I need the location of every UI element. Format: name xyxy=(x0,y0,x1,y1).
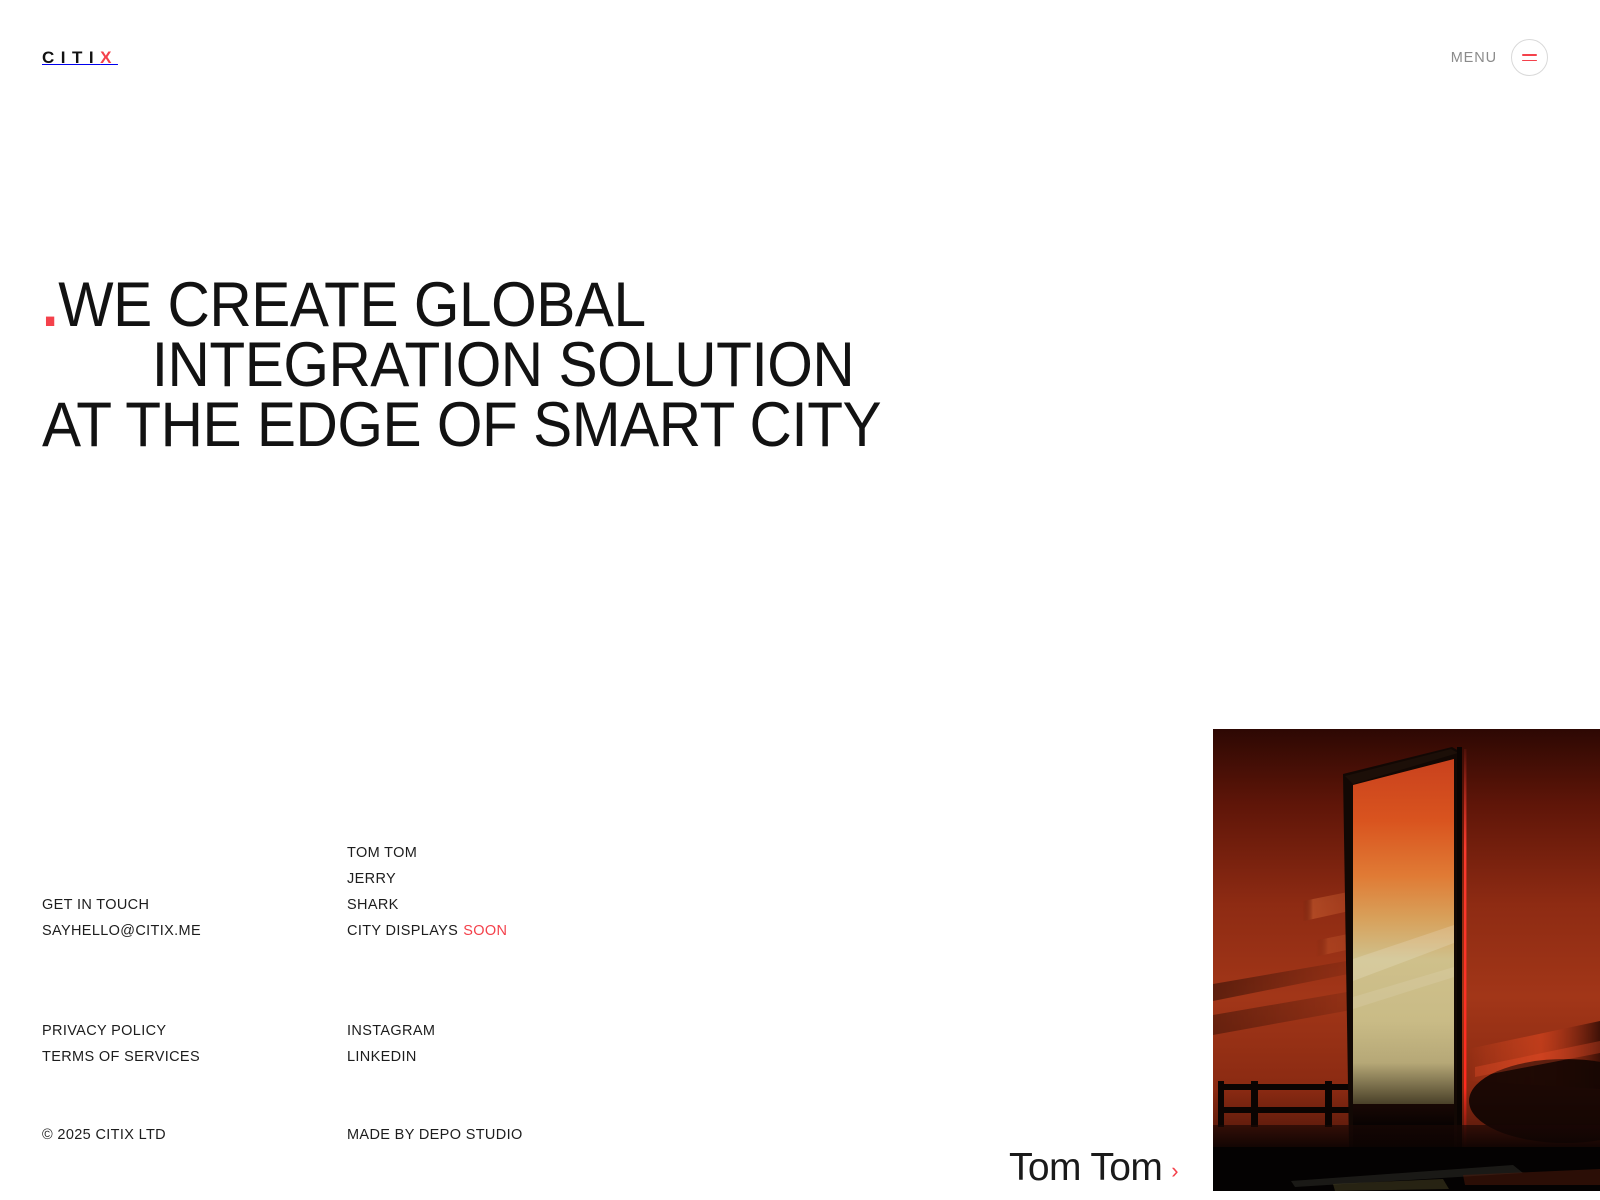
footer-social-column: INSTAGRAM LINKEDIN xyxy=(347,1018,1042,1070)
hero-headline: .WE CREATE GLOBAL INTEGRATION SOLUTION A… xyxy=(42,275,1142,455)
hamburger-bar-bottom xyxy=(1522,60,1537,62)
footer-middle-grid: PRIVACY POLICY TERMS OF SERVICES INSTAGR… xyxy=(42,1018,1042,1070)
hero-accent-dot: . xyxy=(42,270,56,340)
status-badge: SOON xyxy=(463,923,507,939)
site-footer: GET IN TOUCH SAYHELLO@CITIX.ME TOM TOM J… xyxy=(42,840,1042,1148)
hero-line-1: .WE CREATE GLOBAL xyxy=(42,275,1065,335)
featured-project-title: Tom Tom xyxy=(1009,1148,1162,1187)
chevron-right-icon: › xyxy=(1171,1160,1178,1182)
brand-logo-accent: X xyxy=(100,49,118,66)
list-item[interactable]: SHARK xyxy=(347,892,1042,918)
contact-heading: GET IN TOUCH xyxy=(42,892,347,918)
footer-spacer-1 xyxy=(42,944,1042,1018)
linkedin-link[interactable]: LINKEDIN xyxy=(347,1044,1042,1070)
project-label: TOM TOM xyxy=(347,845,417,861)
project-label: JERRY xyxy=(347,871,396,887)
footer-spacer-2 xyxy=(42,1070,1042,1122)
contact-email-link[interactable]: SAYHELLO@CITIX.ME xyxy=(42,918,347,944)
featured-project-image[interactable] xyxy=(1213,729,1600,1191)
footer-projects-column: TOM TOM JERRY SHARK CITY DISPLAYSSOON xyxy=(347,840,1042,944)
hamburger-icon[interactable] xyxy=(1511,39,1548,76)
menu-zone: MENU xyxy=(1451,39,1548,76)
project-label: CITY DISPLAYS xyxy=(347,923,458,939)
hamburger-bar-top xyxy=(1522,54,1537,56)
list-item[interactable]: TOM TOM xyxy=(347,840,1042,866)
copyright-text: © 2025 CITIX LTD xyxy=(42,1122,347,1148)
instagram-link[interactable]: INSTAGRAM xyxy=(347,1018,1042,1044)
menu-label: MENU xyxy=(1451,50,1497,66)
site-header: CITIX MENU xyxy=(0,0,1600,115)
studio-credit-link[interactable]: MADE BY DEPO STUDIO xyxy=(347,1122,1042,1148)
footer-bottom-grid: © 2025 CITIX LTD MADE BY DEPO STUDIO xyxy=(42,1122,1042,1148)
featured-project-caption[interactable]: Tom Tom › xyxy=(1009,1148,1179,1187)
project-artwork xyxy=(1213,729,1600,1191)
brand-logo[interactable]: CITIX xyxy=(42,49,118,66)
list-item[interactable]: CITY DISPLAYSSOON xyxy=(347,918,1042,944)
project-label: SHARK xyxy=(347,897,399,913)
hero-line-2: INTEGRATION SOLUTION xyxy=(42,335,1065,395)
brand-logo-main: CITI xyxy=(42,49,100,66)
list-item[interactable]: JERRY xyxy=(347,866,1042,892)
hero-line-3: AT THE EDGE OF SMART CITY xyxy=(42,395,1065,455)
footer-contact-column: GET IN TOUCH SAYHELLO@CITIX.ME xyxy=(42,840,347,944)
terms-of-services-link[interactable]: TERMS OF SERVICES xyxy=(42,1044,347,1070)
privacy-policy-link[interactable]: PRIVACY POLICY xyxy=(42,1018,347,1044)
footer-legal-column: PRIVACY POLICY TERMS OF SERVICES xyxy=(42,1018,347,1070)
footer-top-grid: GET IN TOUCH SAYHELLO@CITIX.ME TOM TOM J… xyxy=(42,840,1042,944)
